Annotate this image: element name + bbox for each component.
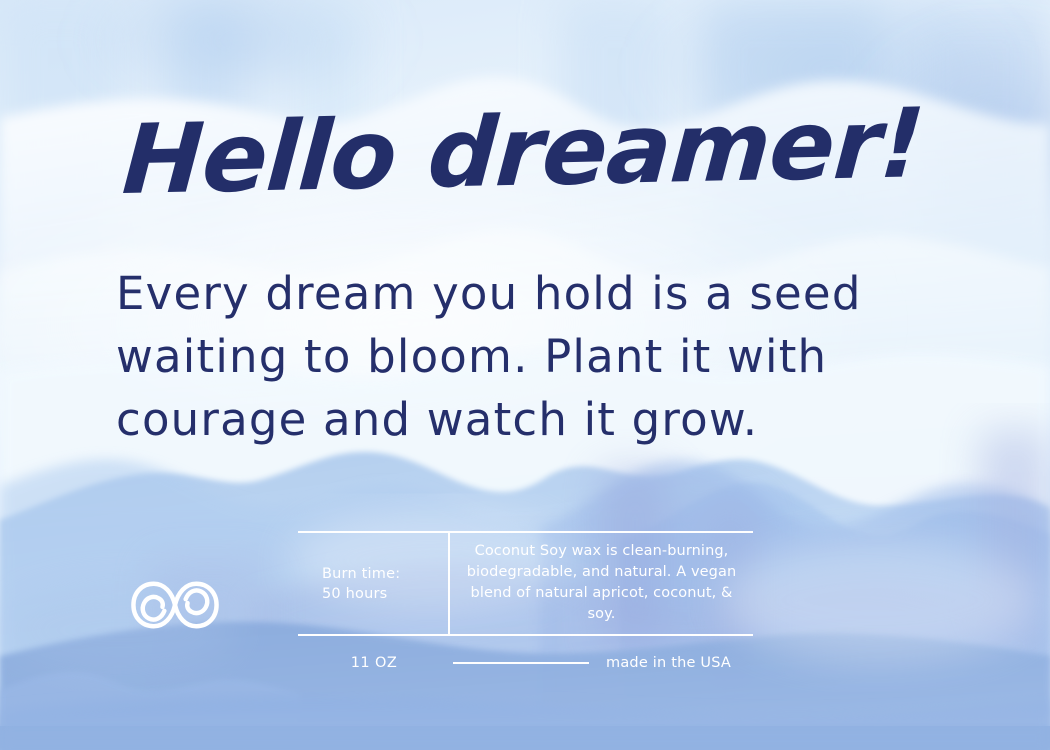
divider-rule: [453, 662, 589, 664]
spec-row-primary: Burn time: 50 hours Coconut Soy wax is c…: [298, 531, 753, 636]
wax-description-text: Coconut Soy wax is clean-burning, biodeg…: [456, 541, 747, 625]
body-message: Every dream you hold is a seed waiting t…: [116, 262, 956, 451]
burn-time-cell: Burn time: 50 hours: [298, 533, 450, 634]
burn-time-label: Burn time:: [322, 564, 448, 584]
infinity-spiral-logo: [126, 576, 224, 634]
net-weight-value: 11 OZ: [298, 655, 450, 671]
spec-row-secondary: 11 OZ made in the USA: [298, 636, 753, 690]
wax-description-cell: Coconut Soy wax is clean-burning, biodeg…: [450, 533, 753, 634]
origin-text: made in the USA: [589, 655, 753, 671]
burn-time-value: 50 hours: [322, 584, 448, 604]
infinity-spiral-icon: [126, 576, 224, 634]
product-spec-panel: Burn time: 50 hours Coconut Soy wax is c…: [298, 531, 753, 690]
page-title: Hello dreamer!: [120, 95, 927, 208]
candle-label-card: Hello dreamer! Every dream you hold is a…: [0, 0, 1050, 750]
